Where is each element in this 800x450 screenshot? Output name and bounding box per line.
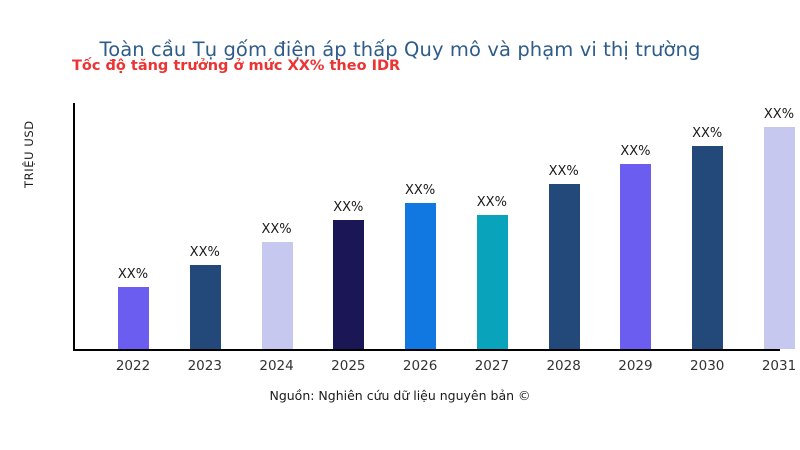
bar-value-label-2025: XX% bbox=[315, 200, 381, 215]
x-tick-2022: 2022 bbox=[100, 358, 166, 374]
x-tick-2028: 2028 bbox=[531, 358, 597, 374]
y-axis-label: TRIỆU USD bbox=[22, 68, 36, 188]
x-tick-2023: 2023 bbox=[172, 358, 238, 374]
x-tick-2029: 2029 bbox=[602, 358, 668, 374]
bar-group-2025[interactable]: XX% bbox=[315, 103, 381, 349]
plot-area: XX%XX%XX%XX%XX%XX%XX%XX%XX%XX% bbox=[73, 103, 780, 351]
bar-value-label-2031: XX% bbox=[746, 107, 800, 122]
bar-2031[interactable] bbox=[764, 127, 795, 349]
bar-value-label-2027: XX% bbox=[459, 195, 525, 210]
bar-2030[interactable] bbox=[692, 146, 723, 349]
chart-container: Toàn cầu Tụ gốm điện áp thấp Quy mô và p… bbox=[0, 0, 800, 450]
bar-group-2028[interactable]: XX% bbox=[531, 103, 597, 349]
bar-value-label-2028: XX% bbox=[531, 164, 597, 179]
growth-rate-annotation: Tốc độ tăng trưởng ở mức XX% theo IDR bbox=[72, 58, 400, 74]
bar-2022[interactable] bbox=[118, 287, 149, 349]
bar-group-2022[interactable]: XX% bbox=[100, 103, 166, 349]
bar-2023[interactable] bbox=[190, 265, 221, 349]
y-axis-line bbox=[73, 103, 75, 351]
bar-group-2030[interactable]: XX% bbox=[674, 103, 740, 349]
x-tick-2030: 2030 bbox=[674, 358, 740, 374]
bar-2028[interactable] bbox=[549, 184, 580, 349]
bar-value-label-2030: XX% bbox=[674, 126, 740, 141]
x-tick-2026: 2026 bbox=[387, 358, 453, 374]
bar-value-label-2024: XX% bbox=[244, 222, 310, 237]
bar-group-2031[interactable]: XX% bbox=[746, 103, 800, 349]
bar-value-label-2023: XX% bbox=[172, 245, 238, 260]
bar-group-2029[interactable]: XX% bbox=[602, 103, 668, 349]
x-tick-2031: 2031 bbox=[746, 358, 800, 374]
bar-group-2023[interactable]: XX% bbox=[172, 103, 238, 349]
bar-value-label-2029: XX% bbox=[602, 144, 668, 159]
bar-2026[interactable] bbox=[405, 203, 436, 349]
x-tick-2025: 2025 bbox=[315, 358, 381, 374]
bar-2025[interactable] bbox=[333, 220, 364, 349]
x-tick-2024: 2024 bbox=[244, 358, 310, 374]
bar-2027[interactable] bbox=[477, 215, 508, 349]
bar-value-label-2026: XX% bbox=[387, 183, 453, 198]
bar-group-2024[interactable]: XX% bbox=[244, 103, 310, 349]
source-note: Nguồn: Nghiên cứu dữ liệu nguyên bản © bbox=[0, 388, 800, 403]
bar-2029[interactable] bbox=[620, 164, 651, 349]
bar-group-2027[interactable]: XX% bbox=[459, 103, 525, 349]
bar-2024[interactable] bbox=[262, 242, 293, 349]
x-tick-2027: 2027 bbox=[459, 358, 525, 374]
bar-value-label-2022: XX% bbox=[100, 267, 166, 282]
x-axis-line bbox=[73, 349, 780, 351]
bar-group-2026[interactable]: XX% bbox=[387, 103, 453, 349]
